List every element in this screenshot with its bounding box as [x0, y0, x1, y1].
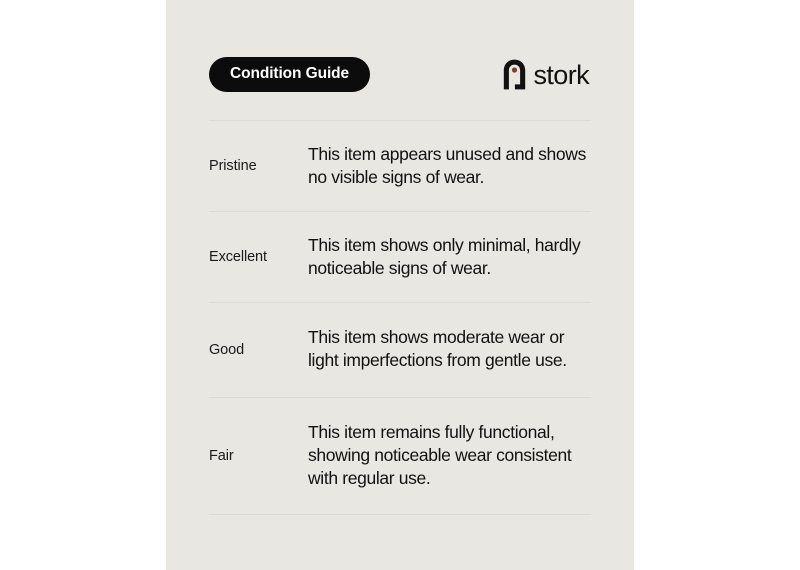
stork-brand-logo: stork [503, 59, 589, 90]
table-row: Good This item shows moderate wear or li… [209, 303, 591, 397]
table-row: Fair This item remains fully functional,… [209, 397, 591, 514]
condition-label-pristine: Pristine [209, 121, 308, 212]
condition-guide-card: Condition Guide stork Pristine This item… [166, 0, 634, 570]
condition-guide-table: Pristine This item appears unused and sh… [209, 120, 591, 515]
condition-label-good: Good [209, 303, 308, 397]
condition-guide-badge: Condition Guide [209, 57, 370, 92]
condition-description-fair: This item remains fully functional, show… [308, 397, 591, 514]
table-row: Excellent This item shows only minimal, … [209, 212, 591, 303]
condition-description-pristine: This item appears unused and shows no vi… [308, 121, 591, 212]
card-header: Condition Guide stork [209, 52, 591, 96]
stork-wordmark: stork [533, 62, 589, 89]
condition-description-good: This item shows moderate wear or light i… [308, 303, 591, 397]
table-row: Pristine This item appears unused and sh… [209, 121, 591, 212]
condition-label-fair: Fair [209, 397, 308, 514]
stork-arch-logo-icon [503, 59, 526, 90]
page-root: Condition Guide stork Pristine This item… [0, 0, 800, 570]
condition-description-excellent: This item shows only minimal, hardly not… [308, 212, 591, 303]
condition-label-excellent: Excellent [209, 212, 308, 303]
